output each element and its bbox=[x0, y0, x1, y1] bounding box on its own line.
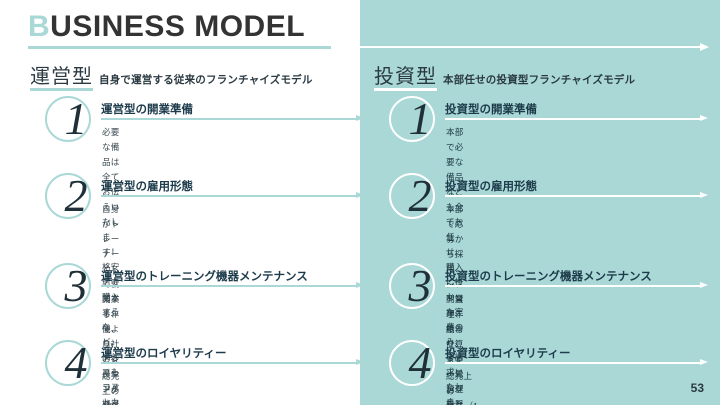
column-header-right: 投資型本部任せの投資型フランチャイズモデル bbox=[374, 60, 635, 89]
number-circle bbox=[45, 340, 91, 386]
column-header-left: 運営型自身で運営する従来のフランチャイズモデル bbox=[30, 60, 313, 89]
number-circle bbox=[45, 263, 91, 309]
number-circle bbox=[389, 263, 435, 309]
item-body-line: 総売上の12％ （1次加盟まで） bbox=[102, 369, 120, 405]
number-circle bbox=[45, 173, 91, 219]
page-title-rest: USINESS MODEL bbox=[50, 10, 305, 43]
page-title-initial: B bbox=[28, 10, 50, 43]
number-circle bbox=[45, 96, 91, 142]
item-arrow-rule bbox=[101, 195, 356, 197]
title-underline-left bbox=[28, 46, 331, 49]
column-subtitle-right: 本部任せの投資型フランチャイズモデル bbox=[443, 74, 635, 86]
item-body-line: 総売上の15％（1次加盟まで） bbox=[446, 369, 478, 405]
item-arrow-rule bbox=[445, 285, 700, 287]
item-body: 総売上の12％ （1次加盟まで） bbox=[102, 369, 120, 405]
item-arrow-rule bbox=[445, 118, 700, 120]
item-arrow-rule bbox=[101, 285, 356, 287]
column-badge-right: 投資型 bbox=[374, 66, 437, 90]
column-subtitle-left: 自身で運営する従来のフランチャイズモデル bbox=[99, 74, 313, 86]
number-circle bbox=[389, 96, 435, 142]
item-arrow-rule bbox=[445, 362, 700, 364]
item-arrow-rule bbox=[101, 118, 356, 120]
column-badge-left: 運営型 bbox=[30, 66, 93, 90]
slide-business-model: BUSINESS MODEL 運営型自身で運営する従来のフランチャイズモデル 投… bbox=[0, 0, 720, 405]
title-arrow-right bbox=[360, 46, 700, 48]
number-circle bbox=[389, 173, 435, 219]
page-title: BUSINESS MODEL bbox=[28, 10, 305, 44]
page-number: 53 bbox=[691, 381, 704, 395]
number-circle bbox=[389, 340, 435, 386]
item-arrow-rule bbox=[445, 195, 700, 197]
item-arrow-rule bbox=[101, 362, 356, 364]
item-body: 総売上の15％（1次加盟まで） bbox=[446, 369, 478, 405]
